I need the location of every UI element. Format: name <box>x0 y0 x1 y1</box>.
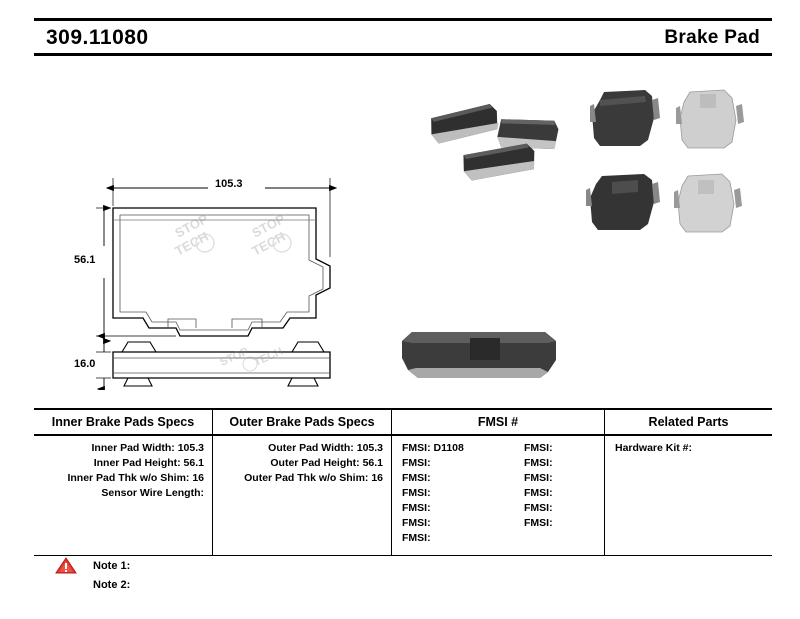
fmsi-entry: FMSI: <box>498 455 594 470</box>
specs-col-fmsi-header: FMSI # <box>392 410 605 435</box>
specs-fmsi-cell: FMSI: D1108 FMSI: FMSI: FMSI: FMSI: FMSI… <box>392 435 605 555</box>
warning-icon <box>55 556 77 575</box>
fmsi-entry: FMSI: <box>498 500 594 515</box>
spec-inner-height: Inner Pad Height: 56.1 <box>34 455 212 470</box>
fmsi-entry: FMSI: D1108 <box>402 440 498 455</box>
specs-col-outer-header: Outer Brake Pads Specs <box>213 410 392 435</box>
dim-width-label: 105.3 <box>215 178 243 190</box>
technical-drawing: STOP TECH STOP TECH <box>0 60 800 390</box>
dim-height-label: 56.1 <box>74 254 95 266</box>
spec-outer-width: Outer Pad Width: 105.3 <box>213 440 391 455</box>
fmsi-column-left: FMSI: D1108 FMSI: FMSI: FMSI: FMSI: FMSI… <box>402 440 498 545</box>
note-1-label: Note 1: <box>93 560 130 572</box>
fmsi-entry: FMSI: <box>402 485 498 500</box>
notes-section: Note 1: Note 2: <box>55 556 355 594</box>
spec-sensor-wire-length: Sensor Wire Length: <box>34 485 212 500</box>
fmsi-entry: FMSI: <box>402 530 498 545</box>
document-header: 309.11080 Brake Pad <box>34 18 772 56</box>
related-hardware-kit: Hardware Kit #: <box>605 440 772 455</box>
watermark-side: STOP TECH <box>218 346 284 374</box>
svg-text:STOP: STOP <box>218 346 250 369</box>
fmsi-entry: FMSI: <box>402 455 498 470</box>
document-title: Brake Pad <box>664 27 760 49</box>
part-number: 309.11080 <box>46 26 149 50</box>
photo-pad-edge <box>402 332 556 378</box>
spec-inner-width: Inner Pad Width: 105.3 <box>34 440 212 455</box>
spec-outer-thickness: Outer Pad Thk w/o Shim: 16 <box>213 470 391 485</box>
note-row-2: Note 2: <box>55 575 355 594</box>
fmsi-entry: FMSI: <box>498 485 594 500</box>
specs-table: Inner Brake Pads Specs Outer Brake Pads … <box>34 408 772 556</box>
dimension-height <box>96 208 176 336</box>
photo-pads-angled <box>428 103 559 181</box>
note-2-icon-placeholder <box>55 575 77 594</box>
dim-thickness-label: 16.0 <box>74 358 95 370</box>
note-2-label: Note 2: <box>93 579 130 591</box>
specs-col-inner-header: Inner Brake Pads Specs <box>34 410 213 435</box>
specs-related-cell: Hardware Kit #: <box>605 435 773 555</box>
specs-body-row: Inner Pad Width: 105.3 Inner Pad Height:… <box>34 435 772 555</box>
specs-col-related-header: Related Parts <box>605 410 773 435</box>
fmsi-entry: FMSI: <box>498 515 594 530</box>
dimension-thickness <box>96 341 111 389</box>
drawing-svg: STOP TECH STOP TECH <box>0 60 800 390</box>
fmsi-entry: FMSI: <box>402 470 498 485</box>
specs-inner-cell: Inner Pad Width: 105.3 Inner Pad Height:… <box>34 435 213 555</box>
spec-inner-thickness: Inner Pad Thk w/o Shim: 16 <box>34 470 212 485</box>
fmsi-entry: FMSI: <box>498 440 594 455</box>
fmsi-column-right: FMSI: FMSI: FMSI: FMSI: FMSI: FMSI: <box>498 440 594 545</box>
note-row-1: Note 1: <box>55 556 355 575</box>
photo-pads-grid <box>586 90 744 232</box>
specs-outer-cell: Outer Pad Width: 105.3 Outer Pad Height:… <box>213 435 392 555</box>
specs-header-row: Inner Brake Pads Specs Outer Brake Pads … <box>34 410 772 435</box>
fmsi-entry: FMSI: <box>498 470 594 485</box>
fmsi-entry: FMSI: <box>402 515 498 530</box>
fmsi-entry: FMSI: <box>402 500 498 515</box>
watermark-front: STOP TECH STOP TECH <box>172 211 294 259</box>
spec-outer-height: Outer Pad Height: 56.1 <box>213 455 391 470</box>
pad-front-view <box>113 208 330 336</box>
